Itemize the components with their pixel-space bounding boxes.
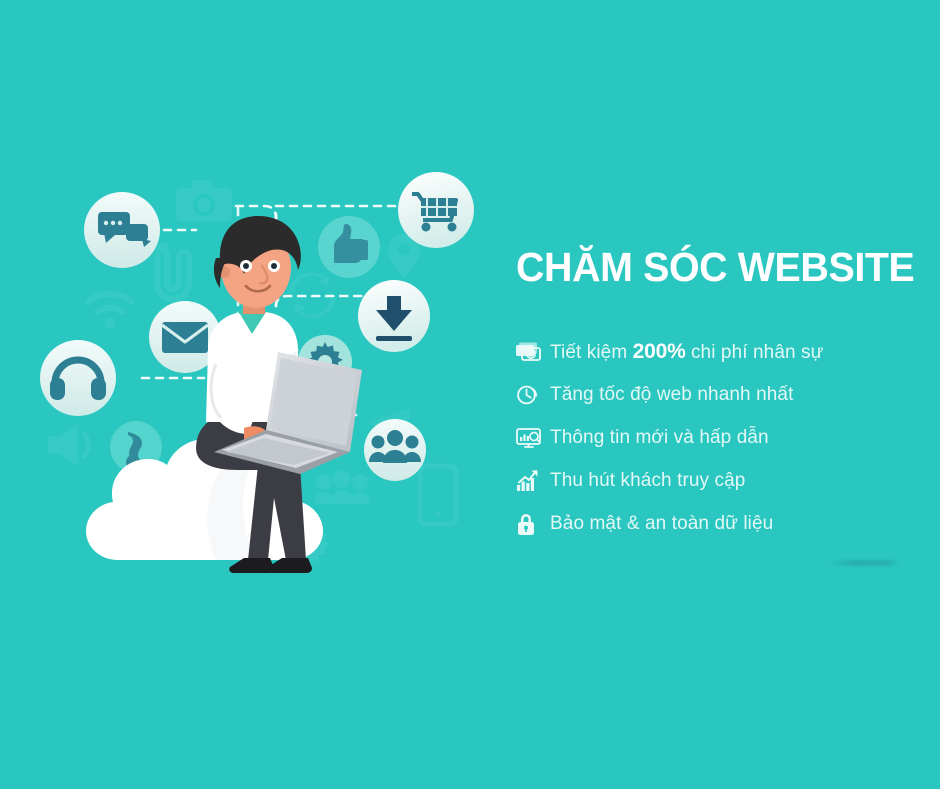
headphones-bubble bbox=[40, 340, 116, 416]
feature-label: Tiết kiệm 200% chi phí nhân sự bbox=[550, 339, 823, 365]
list-item: Tăng tốc độ web nhanh nhất bbox=[516, 373, 926, 416]
envelope-mail-icon bbox=[162, 322, 208, 353]
page-title: CHĂM SÓC WEBSITE bbox=[516, 246, 910, 289]
users-group-icon bbox=[314, 470, 370, 504]
thumbs-up-bubble bbox=[318, 216, 380, 278]
padlock-icon bbox=[516, 511, 550, 537]
feature-label: Bảo mật & an toàn dữ liệu bbox=[550, 513, 773, 536]
monitor-chart-icon bbox=[516, 425, 550, 451]
banner-canvas: CHĂM SÓC WEBSITE Tiết kiệm 200% chi phí … bbox=[0, 0, 940, 789]
camera-icon bbox=[176, 180, 232, 222]
paperclip-icon bbox=[156, 246, 189, 299]
shadow-streak-artifact bbox=[828, 560, 900, 566]
smartphone-icon bbox=[420, 466, 456, 524]
list-item: Tiết kiệm 200% chi phí nhân sự bbox=[516, 330, 926, 373]
users-group-bubble bbox=[364, 419, 426, 481]
illustration-artwork bbox=[0, 0, 500, 789]
feature-list: Tiết kiệm 200% chi phí nhân sự Tăng tốc … bbox=[516, 330, 926, 545]
chat-bubbles-bubble bbox=[84, 192, 160, 268]
download-bubble bbox=[358, 280, 430, 352]
feature-highlight: 200% bbox=[633, 340, 686, 363]
feature-label: Thu hút khách truy cập bbox=[550, 470, 745, 493]
content-panel: CHĂM SÓC WEBSITE Tiết kiệm 200% chi phí … bbox=[516, 246, 926, 545]
list-item: Bảo mật & an toàn dữ liệu bbox=[516, 502, 926, 545]
speaker-megaphone-icon bbox=[48, 424, 88, 466]
wifi-icon bbox=[88, 294, 132, 328]
feature-text-before: Tiết kiệm bbox=[550, 342, 633, 363]
shoe-left bbox=[229, 558, 274, 573]
growth-bar-chart-icon bbox=[516, 468, 550, 494]
list-item: Thông tin mới và hấp dẫn bbox=[516, 416, 926, 459]
shoe-right bbox=[267, 558, 312, 573]
money-cash-icon bbox=[516, 339, 550, 365]
clock-speed-icon bbox=[516, 382, 550, 408]
feature-label: Thông tin mới và hấp dẫn bbox=[550, 427, 769, 450]
feature-label: Tăng tốc độ web nhanh nhất bbox=[550, 384, 793, 407]
list-item: Thu hút khách truy cập bbox=[516, 459, 926, 502]
shopping-cart-bubble bbox=[398, 172, 474, 248]
feature-text-after: chi phí nhân sự bbox=[686, 342, 824, 363]
